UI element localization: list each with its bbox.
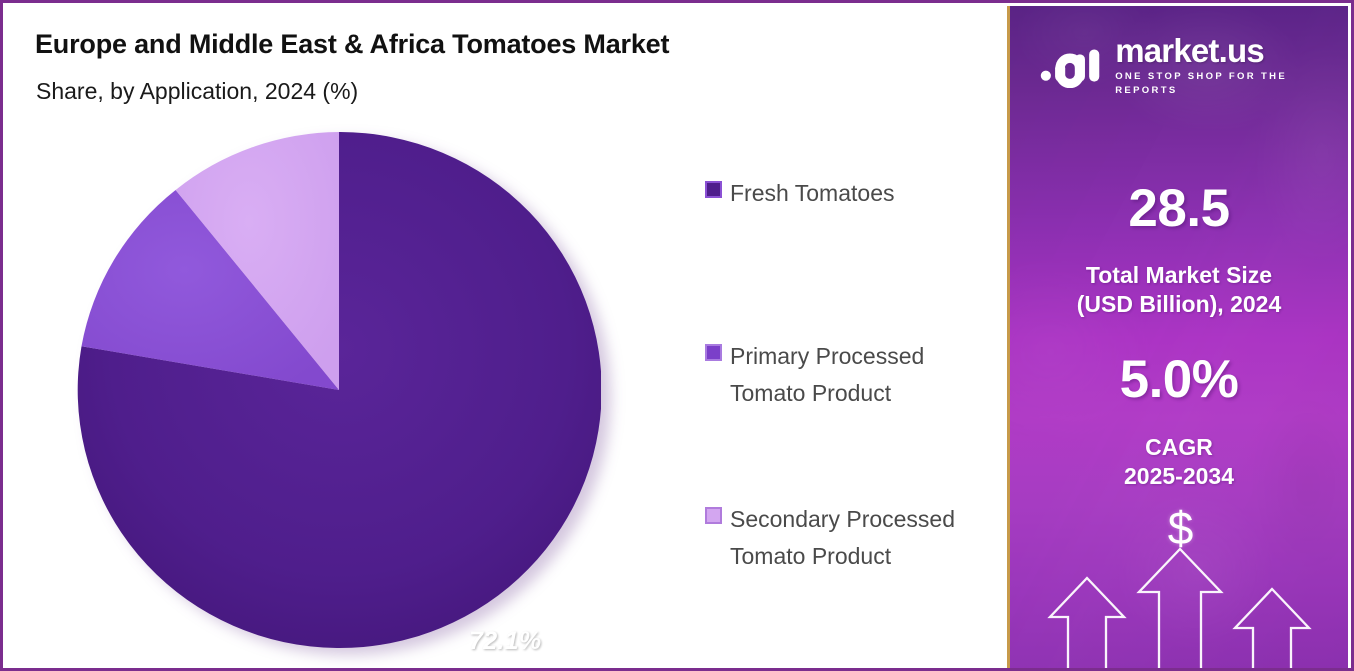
brand-name: market.us bbox=[1115, 34, 1348, 68]
chart-panel: Europe and Middle East & Africa Tomatoes… bbox=[3, 3, 1010, 668]
legend-item-label: Primary Processed Tomato Product bbox=[730, 338, 924, 412]
cagr-caption: CAGR 2025-2034 bbox=[1010, 433, 1348, 491]
pie-chart-svg bbox=[77, 132, 601, 648]
cagr-value: 5.0% bbox=[1010, 349, 1348, 410]
brand-logo: market.us ONE STOP SHOP FOR THE REPORTS bbox=[1040, 34, 1348, 98]
legend-item-fresh-tomatoes[interactable]: Fresh Tomatoes bbox=[705, 175, 894, 212]
legend-swatch-icon bbox=[705, 344, 722, 361]
pie-chart: 72.1% bbox=[77, 132, 609, 652]
market-size-value: 28.5 bbox=[1010, 178, 1348, 239]
legend-item-primary-processed[interactable]: Primary Processed Tomato Product bbox=[705, 338, 924, 412]
market-size-caption: Total Market Size (USD Billion), 2024 bbox=[1010, 261, 1348, 319]
legend-swatch-icon bbox=[705, 507, 722, 524]
chart-subtitle: Share, by Application, 2024 (%) bbox=[36, 78, 358, 105]
infographic-root: Europe and Middle East & Africa Tomatoes… bbox=[0, 0, 1354, 671]
stats-panel: market.us ONE STOP SHOP FOR THE REPORTS … bbox=[1007, 6, 1348, 671]
dollar-sign-icon: $ bbox=[1010, 505, 1348, 551]
legend-swatch-icon bbox=[705, 181, 722, 198]
pie-slice-value-label: 72.1% bbox=[469, 627, 541, 656]
legend-item-secondary-processed[interactable]: Secondary Processed Tomato Product bbox=[705, 501, 955, 575]
legend-item-label: Secondary Processed Tomato Product bbox=[730, 501, 955, 575]
market-us-logo-icon bbox=[1040, 44, 1106, 88]
legend-item-label: Fresh Tomatoes bbox=[730, 175, 894, 212]
brand-tagline: ONE STOP SHOP FOR THE REPORTS bbox=[1115, 70, 1348, 98]
growth-arrows-icon: $ bbox=[1010, 491, 1348, 671]
page-title: Europe and Middle East & Africa Tomatoes… bbox=[35, 29, 669, 60]
